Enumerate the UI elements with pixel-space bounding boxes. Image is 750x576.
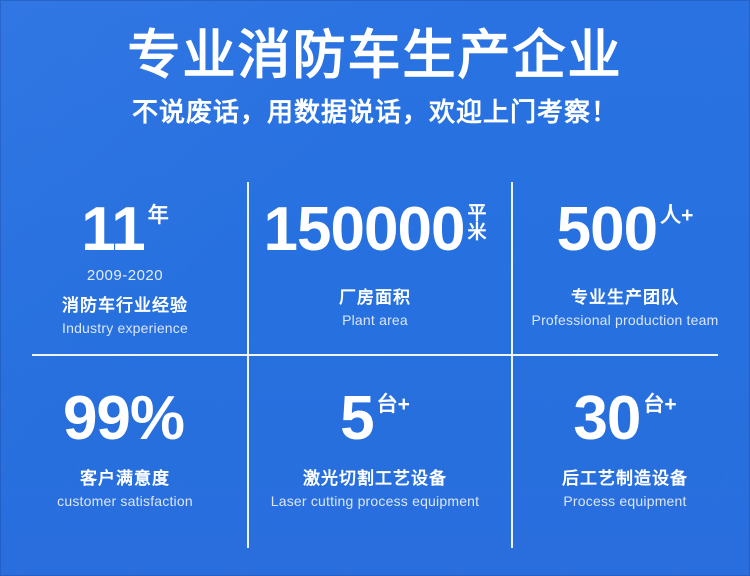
- stat-label-cn: 消防车行业经验: [62, 291, 188, 316]
- stat-cell-laser-cutting-equipment: 5 台+ 激光切割工艺设备 Laser cutting process equi…: [250, 367, 500, 552]
- stat-number: 99%: [63, 389, 184, 450]
- stat-label-cn: 后工艺制造设备: [562, 464, 688, 489]
- stat-number: 5: [340, 389, 373, 450]
- stat-range: 2009-2020: [87, 267, 163, 284]
- banner-header: 专业消防车生产企业 不说废话，用数据说话，欢迎上门考察！: [0, 0, 750, 127]
- stat-number-row: 500 人+: [557, 200, 694, 261]
- stat-cell-plant-area: 150000 平 米 厂房面积 Plant area: [250, 182, 500, 367]
- stat-unit: 平 米: [467, 200, 486, 243]
- stat-number-row: 150000 平 米: [264, 200, 487, 261]
- stat-number-row: 11 年: [81, 200, 169, 261]
- stat-label-en: customer satisfaction: [57, 493, 193, 509]
- stat-unit: 年: [148, 200, 169, 227]
- stat-number: 30: [573, 389, 640, 450]
- stat-number: 500: [557, 200, 657, 261]
- stat-unit: 台+: [643, 389, 676, 416]
- stat-cell-industry-experience: 11 年 2009-2020 消防车行业经验 Industry experien…: [0, 182, 250, 367]
- stat-label-cn: 激光切割工艺设备: [303, 464, 447, 489]
- stat-label-en: Professional production team: [532, 312, 719, 328]
- stat-unit: 人+: [660, 200, 693, 227]
- stat-label-en: Process equipment: [563, 493, 686, 509]
- stat-cell-customer-satisfaction: 99% 客户满意度 customer satisfaction: [0, 367, 250, 552]
- stat-label-cn: 厂房面积: [339, 283, 411, 308]
- stat-number-row: 5 台+: [340, 389, 410, 450]
- stat-unit: 台+: [377, 389, 410, 416]
- stat-label-en: Plant area: [342, 312, 408, 328]
- stat-label-cn: 专业生产团队: [571, 283, 679, 308]
- stat-number-row: 99%: [63, 389, 187, 450]
- stat-unit-top: 平: [467, 204, 486, 223]
- stat-cell-process-equipment: 30 台+ 后工艺制造设备 Process equipment: [500, 367, 750, 552]
- stat-label-cn: 客户满意度: [80, 464, 170, 489]
- stat-cell-production-team: 500 人+ 专业生产团队 Professional production te…: [500, 182, 750, 367]
- stat-label-en: Laser cutting process equipment: [271, 493, 480, 509]
- page-title: 专业消防车生产企业: [0, 0, 750, 84]
- stat-number-row: 30 台+: [573, 389, 676, 450]
- promo-banner: 专业消防车生产企业 不说废话，用数据说话，欢迎上门考察！ 11 年 2009-2…: [0, 0, 750, 576]
- stat-number: 150000: [264, 200, 465, 261]
- stat-number: 11: [81, 200, 145, 261]
- stat-unit-bottom: 米: [467, 223, 486, 242]
- stat-label-en: Industry experience: [62, 320, 188, 336]
- stats-grid: 11 年 2009-2020 消防车行业经验 Industry experien…: [0, 182, 750, 552]
- page-subtitle: 不说废话，用数据说话，欢迎上门考察！: [0, 84, 750, 127]
